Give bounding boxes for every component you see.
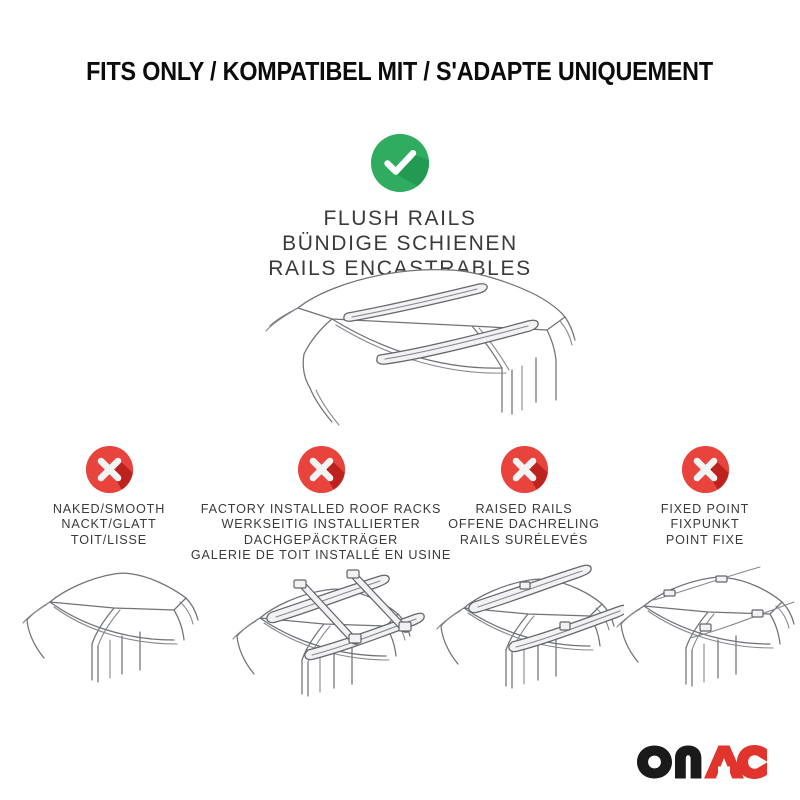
incompatible-label-en: FACTORY INSTALLED ROOF RACKS: [191, 502, 451, 517]
incompatible-item-factory-installed-roof-racks: FACTORY INSTALLED ROOF RACKS WERKSEITIG …: [196, 446, 446, 696]
incompatible-labels: FIXED POINT FIXPUNKT POINT FIXE: [661, 502, 749, 548]
naked-roof-illustration: [14, 562, 204, 702]
incompatible-label-fr: GALERIE DE TOIT INSTALLÉ EN USINE: [191, 548, 451, 563]
incompatible-label-de-1: WERKSEITIG INSTALLIERTER: [191, 517, 451, 532]
compatible-section: FLUSH RAILS BÜNDIGE SCHIENEN RAILS ENCAS…: [0, 134, 800, 281]
fixed-point-roof-illustration: [612, 562, 798, 702]
red-cross-icon: [501, 446, 548, 493]
raised-rails-roof-illustration: [424, 562, 624, 702]
incompatible-label-fr: POINT FIXE: [661, 533, 749, 548]
page-title: FITS ONLY / KOMPATIBEL MIT / S'ADAPTE UN…: [87, 58, 714, 87]
incompatible-item-naked-smooth: NAKED/SMOOTH NACKT/GLATT TOIT/LISSE: [14, 446, 204, 696]
incompatible-item-fixed-point: FIXED POINT FIXPUNKT POINT FIXE: [612, 446, 798, 696]
header-bar: FITS ONLY / KOMPATIBEL MIT / S'ADAPTE UN…: [0, 44, 800, 100]
incompatible-label-de-2: DACHGEPÄCKTRÄGER: [191, 533, 451, 548]
incompatible-label-de: OFFENE DACHRELING: [448, 517, 600, 532]
red-cross-icon: [298, 446, 345, 493]
incompatible-item-raised-rails: RAISED RAILS OFFENE DACHRELING RAILS SUR…: [424, 446, 624, 696]
flush-rails-roof-illustration: [236, 262, 586, 442]
compatible-label-en: FLUSH RAILS: [268, 206, 531, 231]
infographic-root: FITS ONLY / KOMPATIBEL MIT / S'ADAPTE UN…: [0, 0, 800, 800]
incompatible-label-en: NAKED/SMOOTH: [53, 502, 165, 517]
omac-logo: [636, 744, 768, 780]
incompatible-label-fr: TOIT/LISSE: [53, 533, 165, 548]
incompatible-label-fr: RAILS SURÉLEVÉS: [448, 533, 600, 548]
incompatible-label-de: NACKT/GLATT: [53, 517, 165, 532]
factory-roof-rack-illustration: [216, 564, 426, 704]
incompatible-label-de: FIXPUNKT: [661, 517, 749, 532]
incompatible-labels: FACTORY INSTALLED ROOF RACKS WERKSEITIG …: [191, 502, 451, 564]
red-cross-icon: [682, 446, 729, 493]
incompatible-labels: NAKED/SMOOTH NACKT/GLATT TOIT/LISSE: [53, 502, 165, 548]
red-cross-icon: [86, 446, 133, 493]
incompatible-labels: RAISED RAILS OFFENE DACHRELING RAILS SUR…: [448, 502, 600, 548]
incompatible-section: NAKED/SMOOTH NACKT/GLATT TOIT/LISSE: [0, 446, 800, 696]
incompatible-label-en: RAISED RAILS: [448, 502, 600, 517]
green-check-icon: [371, 134, 429, 192]
compatible-label-de: BÜNDIGE SCHIENEN: [268, 231, 531, 256]
incompatible-label-en: FIXED POINT: [661, 502, 749, 517]
